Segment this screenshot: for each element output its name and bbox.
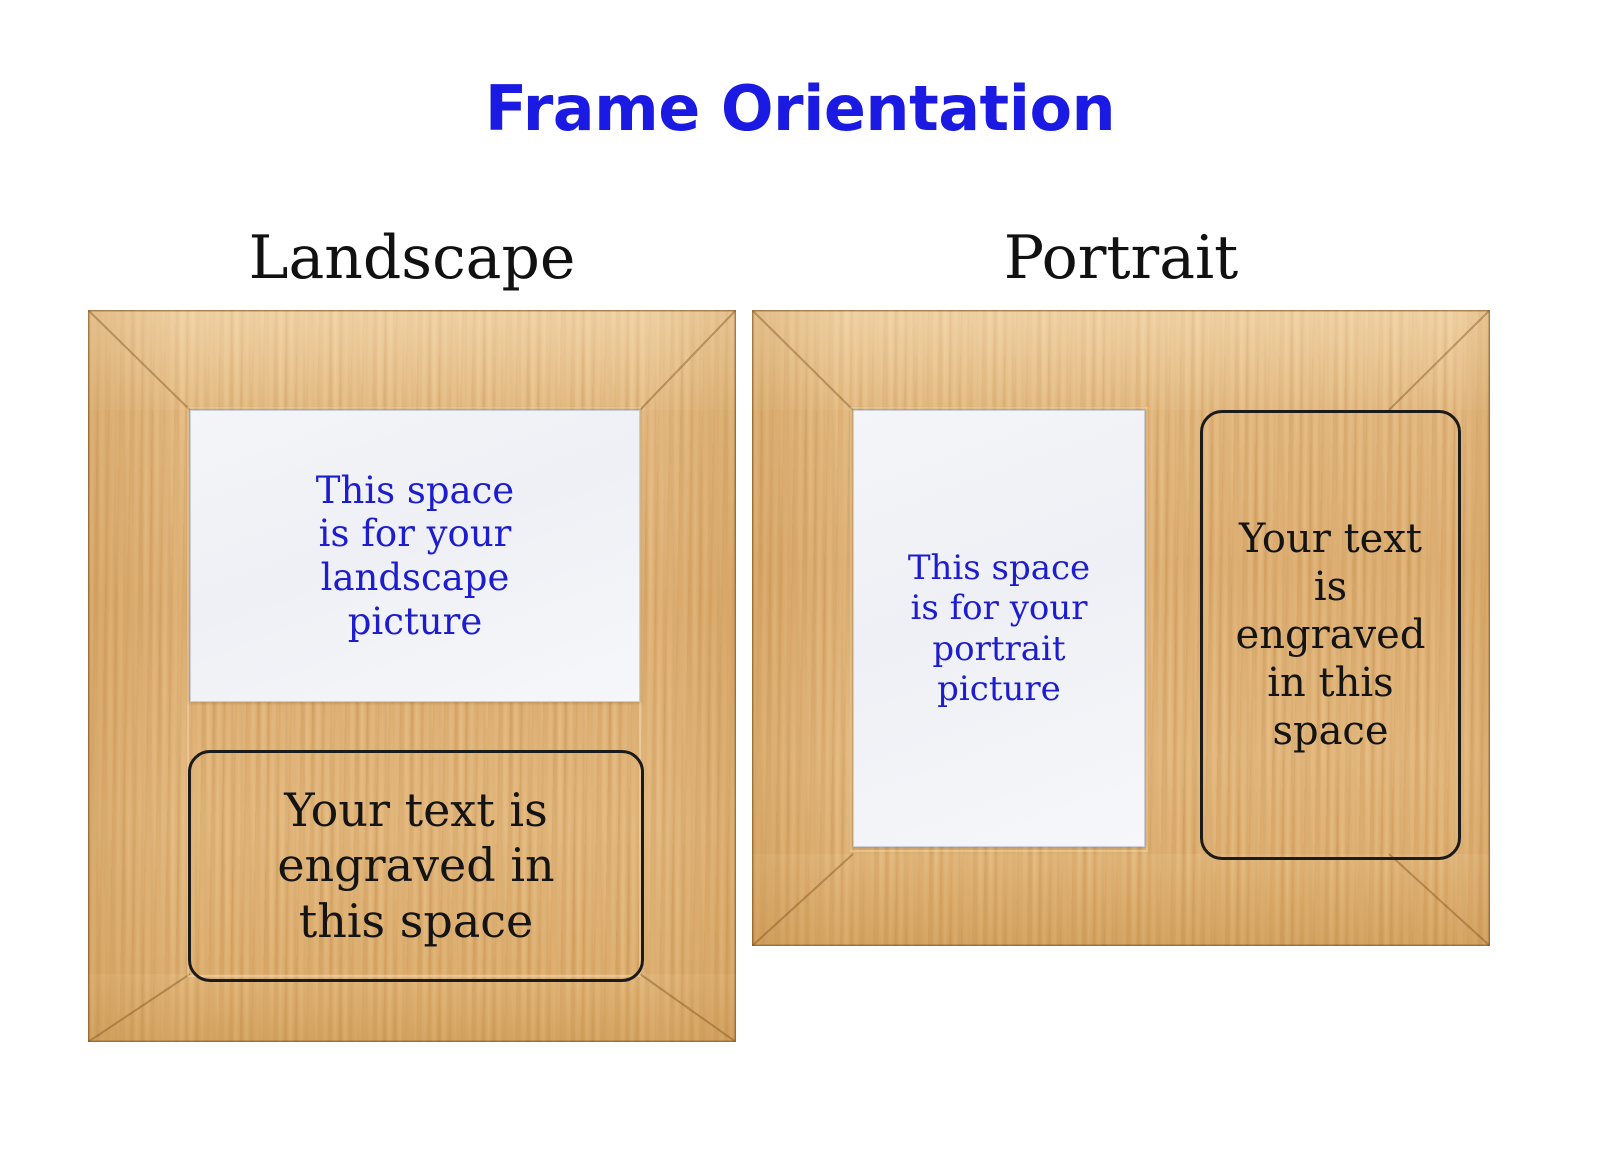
photo-opening-landscape: This space is for your landscape picture bbox=[190, 410, 640, 702]
photo-placeholder-text-landscape: This space is for your landscape picture bbox=[316, 469, 514, 644]
engraving-text-landscape: Your text is engraved in this space bbox=[277, 783, 554, 949]
frame-caption-landscape: Landscape bbox=[88, 228, 736, 288]
frame-rail-top-landscape bbox=[88, 310, 736, 410]
picture-frame-portrait: This space is for your portrait picture … bbox=[752, 310, 1490, 946]
page-title: Frame Orientation bbox=[0, 78, 1600, 140]
photo-opening-portrait: This space is for your portrait picture bbox=[853, 410, 1145, 847]
picture-frame-landscape: This space is for your landscape picture… bbox=[88, 310, 736, 1042]
page-root: Frame Orientation Landscape This space i… bbox=[0, 0, 1600, 1172]
engraving-plate-landscape: Your text is engraved in this space bbox=[188, 750, 644, 982]
engraving-text-portrait: Your text is engraved in this space bbox=[1236, 515, 1426, 755]
frame-rail-right-landscape bbox=[640, 310, 736, 1042]
engraving-plate-portrait: Your text is engraved in this space bbox=[1200, 410, 1461, 860]
frame-caption-portrait: Portrait bbox=[752, 228, 1490, 288]
photo-placeholder-text-portrait: This space is for your portrait picture bbox=[908, 548, 1090, 708]
frame-rail-bottom-landscape bbox=[88, 974, 736, 1042]
frame-rail-top-portrait bbox=[752, 310, 1490, 410]
frame-rail-left-portrait bbox=[752, 310, 853, 946]
frame-rail-left-landscape bbox=[88, 310, 190, 1042]
frame-rail-bottom-portrait bbox=[752, 854, 1490, 946]
